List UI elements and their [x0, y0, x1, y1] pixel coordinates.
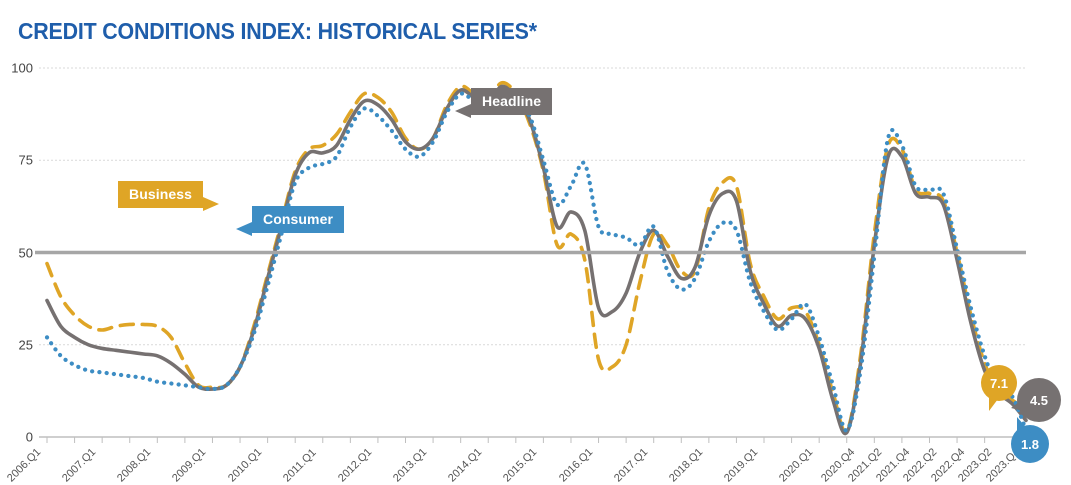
end-value-business: 7.1 [990, 376, 1008, 391]
x-tick-2011-Q1: 2011.Q1 [281, 447, 319, 485]
x-tick-2014-Q1: 2014.Q1 [446, 446, 484, 484]
callout-tail [455, 104, 471, 118]
y-tick-100: 100 [0, 61, 33, 76]
series-callout-headline: Headline [471, 88, 552, 115]
end-value-headline: 4.5 [1030, 393, 1048, 408]
end-value-pin-headline: 4.5 [1017, 378, 1061, 422]
y-tick-0: 0 [0, 430, 33, 445]
pin-tail [989, 395, 1001, 411]
x-tick-2006-Q1: 2006.Q1 [5, 446, 43, 484]
y-tick-50: 50 [0, 245, 33, 260]
callout-tail [236, 222, 252, 236]
series-callout-headline-label: Headline [482, 93, 541, 109]
x-tick-2012-Q1: 2012.Q1 [336, 446, 374, 484]
callout-tail [203, 197, 219, 211]
series-callout-business-label: Business [129, 186, 192, 202]
chart-root: CREDIT CONDITIONS INDEX: HISTORICAL SERI… [0, 0, 1071, 485]
x-tick-2016-Q1: 2016.Q1 [557, 446, 595, 484]
x-tick-2013-Q1: 2013.Q1 [391, 446, 429, 484]
x-tick-2018-Q1: 2018.Q1 [667, 446, 705, 484]
x-tick-2010-Q1: 2010.Q1 [226, 446, 264, 484]
pin-tail [1011, 396, 1027, 412]
end-value-pin-consumer: 1.8 [1011, 425, 1049, 463]
x-tick-2008-Q1: 2008.Q1 [115, 446, 153, 484]
x-tick-2017-Q1: 2017.Q1 [612, 446, 650, 484]
end-value-consumer: 1.8 [1021, 437, 1039, 452]
series-line-headline [47, 86, 1026, 433]
x-tick-2019-Q1: 2019.Q1 [722, 446, 760, 484]
x-tick-2007-Q1: 2007.Q1 [60, 446, 98, 484]
x-tick-2009-Q1: 2009.Q1 [170, 446, 208, 484]
series-callout-consumer: Consumer [252, 206, 344, 233]
series-callout-consumer-label: Consumer [263, 211, 333, 227]
y-tick-25: 25 [0, 337, 33, 352]
series-callout-business: Business [118, 181, 203, 208]
x-tick-2020-Q1: 2020.Q1 [777, 446, 815, 484]
pin-tail [1017, 417, 1031, 433]
chart-title: CREDIT CONDITIONS INDEX: HISTORICAL SERI… [18, 18, 537, 45]
y-tick-75: 75 [0, 153, 33, 168]
x-tick-2015-Q1: 2015.Q1 [501, 446, 539, 484]
